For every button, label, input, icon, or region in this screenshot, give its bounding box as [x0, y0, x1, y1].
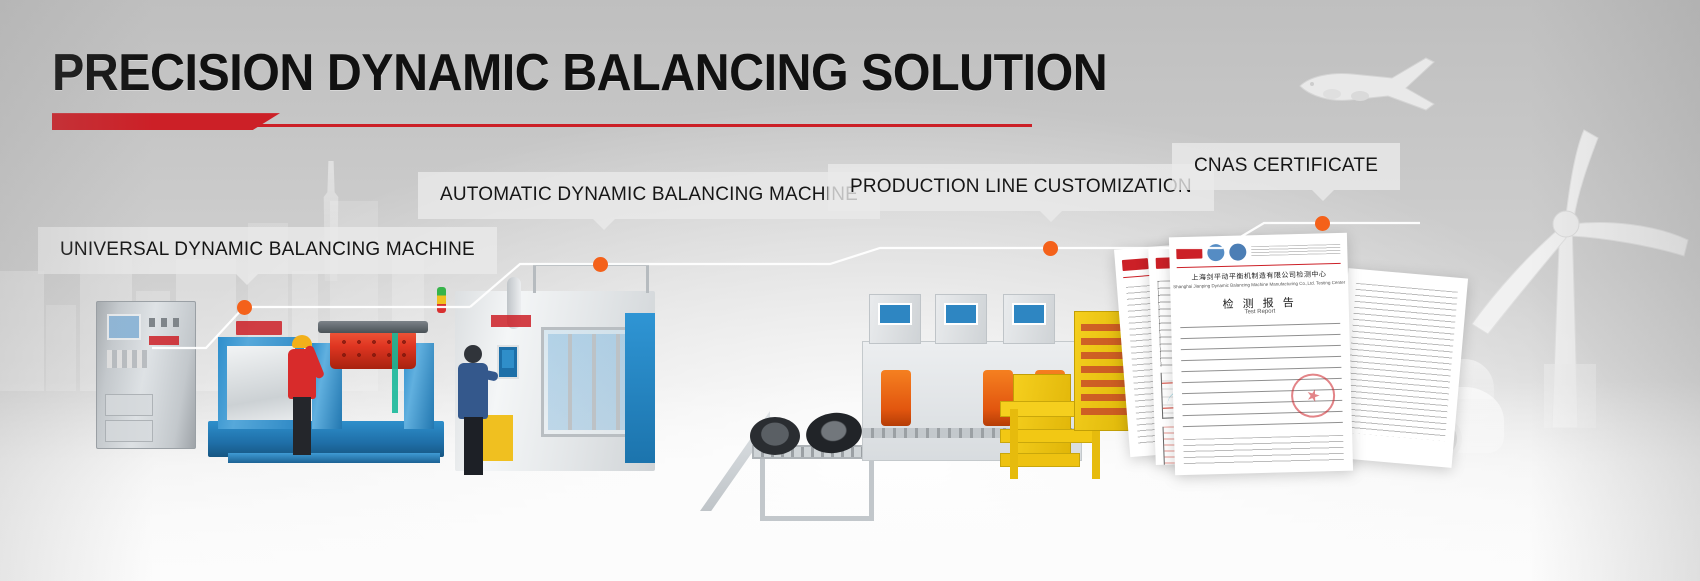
- callout-dot-automatic: [593, 257, 608, 272]
- underline-thin: [252, 124, 1032, 127]
- callout-pointer: [593, 219, 615, 230]
- doc-field-row: [1180, 323, 1340, 328]
- stair-leg: [1010, 409, 1018, 479]
- cabinet-drawer: [105, 420, 153, 442]
- line-screen: [878, 303, 912, 325]
- certificate-test-report: 上海剑平动平衡机制造有限公司检测中心 Shanghai Jianping Dyn…: [1169, 233, 1353, 476]
- doc-field-row: [1181, 356, 1341, 361]
- callout-label-automatic[interactable]: AUTOMATIC DYNAMIC BALANCING MACHINE: [418, 172, 880, 219]
- underline-thick: [52, 113, 280, 130]
- doc-divider: [1177, 263, 1341, 268]
- worker-legs: [464, 417, 483, 475]
- machine-top-frame: [533, 263, 649, 293]
- panel-row: [1081, 394, 1131, 401]
- callout-pointer: [1312, 190, 1334, 201]
- callout-label-cnas[interactable]: CNAS CERTIFICATE: [1172, 143, 1400, 190]
- jp-logo: [491, 315, 531, 327]
- callout-dot-cnas: [1315, 216, 1330, 231]
- cnas-seal-icon: [1229, 243, 1246, 260]
- machine-rail: [228, 453, 440, 463]
- line-screen: [944, 303, 978, 325]
- control-cabinet: [96, 301, 196, 449]
- page-title: PRECISION DYNAMIC BALANCING SOLUTION: [52, 46, 1107, 101]
- callout-dot-universal: [237, 300, 252, 315]
- jp-logo: [1122, 258, 1149, 271]
- headline-block: PRECISION DYNAMIC BALANCING SOLUTION: [52, 46, 1187, 135]
- doc-footer-contact: [1183, 435, 1344, 465]
- robot-arm: [881, 370, 911, 426]
- doc-field-row: [1181, 334, 1341, 339]
- callout-label-text: AUTOMATIC DYNAMIC BALANCING MACHINE: [440, 184, 858, 205]
- cabinet-knobs: [149, 318, 183, 327]
- jp-logo: [236, 321, 282, 335]
- callout-label-text: UNIVERSAL DYNAMIC BALANCING MACHINE: [60, 239, 475, 260]
- callout-label-text: PRODUCTION LINE CUSTOMIZATION: [850, 176, 1192, 197]
- worker-torso: [288, 349, 316, 399]
- conveyor-frame: [760, 457, 874, 521]
- certificate-document: [1332, 268, 1468, 468]
- line-screen: [1012, 303, 1046, 325]
- doc-header: [1176, 240, 1340, 262]
- blue-access-door: [625, 313, 655, 463]
- machine-arm: [318, 321, 428, 333]
- worker-legs: [293, 397, 311, 455]
- andon-light: [437, 287, 446, 313]
- worker-blue: [458, 345, 488, 475]
- callout-pointer: [1040, 211, 1062, 222]
- cma-seal-icon: [1207, 243, 1224, 260]
- hmi-panel: [497, 345, 519, 379]
- cabinet-drawer: [105, 394, 153, 416]
- promo-banner: 上海剑平动平衡机制造有限公司检测中心 Shanghai Jianping Dyn…: [0, 0, 1700, 581]
- callout-pointer: [236, 274, 258, 285]
- line-cabinet: [869, 294, 921, 344]
- jp-logo: [149, 336, 179, 345]
- doc-field-row: [1181, 367, 1341, 372]
- line-cabinet: [1003, 294, 1055, 344]
- panel-row: [1081, 408, 1131, 415]
- doc-field-row: [1183, 422, 1343, 427]
- cabinet-buttons: [107, 350, 147, 368]
- callout-label-production[interactable]: PRODUCTION LINE CUSTOMIZATION: [828, 164, 1214, 211]
- cabinet-screen: [107, 314, 141, 340]
- callout-label-text: CNAS CERTIFICATE: [1194, 155, 1378, 176]
- doc-field-row: [1181, 345, 1341, 350]
- doc-report-no: [1251, 244, 1340, 256]
- worker-head: [464, 345, 482, 363]
- jp-logo: [1176, 247, 1202, 259]
- worker-red: [288, 335, 316, 455]
- callout-label-universal[interactable]: UNIVERSAL DYNAMIC BALANCING MACHINE: [38, 227, 497, 274]
- tire: [750, 417, 800, 455]
- red-rotor: [330, 329, 416, 369]
- doc-text-lines: [1343, 283, 1458, 441]
- machine-door: [227, 346, 295, 420]
- line-cabinet: [935, 294, 987, 344]
- callout-dot-production: [1043, 241, 1058, 256]
- title-underline: [52, 113, 1032, 135]
- green-strap: [392, 325, 398, 413]
